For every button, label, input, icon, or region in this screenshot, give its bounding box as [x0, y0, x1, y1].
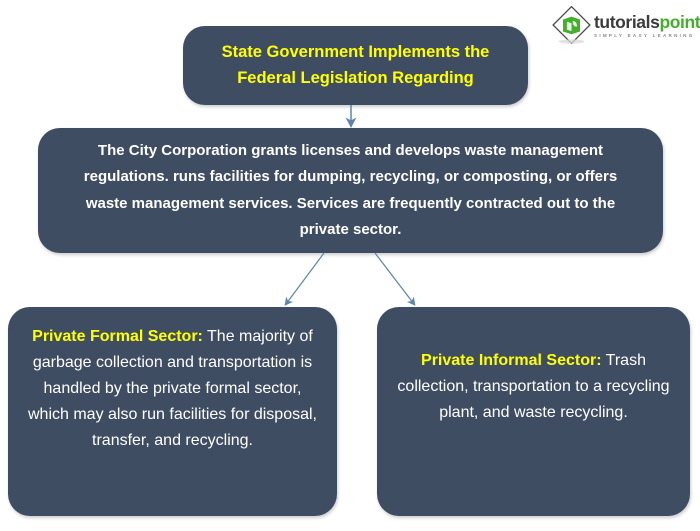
node-city-corporation-text: The City Corporation grants licenses and… — [38, 138, 663, 243]
tutorialspoint-logo: tutorialspoint SIMPLY EASY LEARNING — [552, 6, 694, 46]
node-private-informal-sector: Private Informal Sector: Trash collectio… — [377, 307, 690, 516]
connector-city-to-formal — [286, 253, 324, 304]
node-private-informal-sector-text: Private Informal Sector: Trash collectio… — [377, 307, 690, 426]
node-private-formal-sector-body: The majority of garbage collection and t… — [28, 328, 317, 449]
diagram-canvas: tutorialspoint SIMPLY EASY LEARNING Stat… — [0, 0, 700, 531]
node-private-informal-sector-lead: Private Informal Sector: — [421, 352, 602, 369]
node-state-government: State Government Implements the Federal … — [183, 26, 528, 105]
logo-wordmark-point: point — [659, 12, 700, 32]
logo-wordmark: tutorialspoint — [594, 14, 700, 32]
node-private-formal-sector: Private Formal Sector: The majority of g… — [8, 307, 337, 516]
logo-wordmark-tutorials: tutorials — [594, 12, 659, 32]
node-state-government-text: State Government Implements the Federal … — [183, 40, 528, 91]
node-private-formal-sector-text: Private Formal Sector: The majority of g… — [8, 307, 337, 454]
tutorialspoint-diamond-icon — [552, 6, 592, 46]
connector-city-to-informal — [375, 253, 414, 304]
node-city-corporation: The City Corporation grants licenses and… — [38, 128, 663, 253]
logo-tagline: SIMPLY EASY LEARNING — [594, 34, 700, 39]
node-private-formal-sector-lead: Private Formal Sector: — [32, 328, 203, 345]
